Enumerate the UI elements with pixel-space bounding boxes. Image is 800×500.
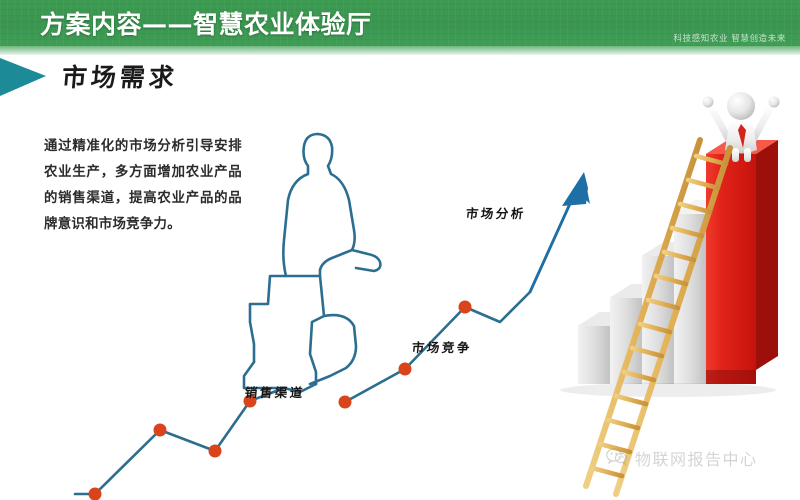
slide-canvas: 方案内容——智慧农业体验厅 科技感知农业 智慧创造未来 市场需求 通过精准化的市… — [0, 0, 800, 500]
slide-header: 方案内容——智慧农业体验厅 科技感知农业 智慧创造未来 — [0, 0, 800, 46]
chart-annotation-sales-channel: 销售渠道 — [244, 382, 306, 401]
chart-annotation-market-analysis: 市场分析 — [465, 203, 527, 222]
bar-chart-3d — [560, 140, 778, 397]
header-tagline: 科技感知农业 智慧创造未来 — [673, 32, 786, 44]
person-outline-art — [244, 134, 380, 392]
watermark-text: 物联网报告中心 — [635, 446, 758, 470]
watermark: 物联网报告中心 — [606, 446, 758, 470]
header-gradient-band — [0, 46, 800, 54]
page-title: 方案内容——智慧农业体验厅 — [40, 5, 372, 41]
bar-5-highlight — [706, 140, 778, 384]
wechat-icon — [606, 447, 628, 469]
graphic-area — [0, 54, 800, 500]
illustration-svg — [0, 54, 800, 500]
chart-annotation-market-competition: 市场竞争 — [411, 337, 473, 356]
